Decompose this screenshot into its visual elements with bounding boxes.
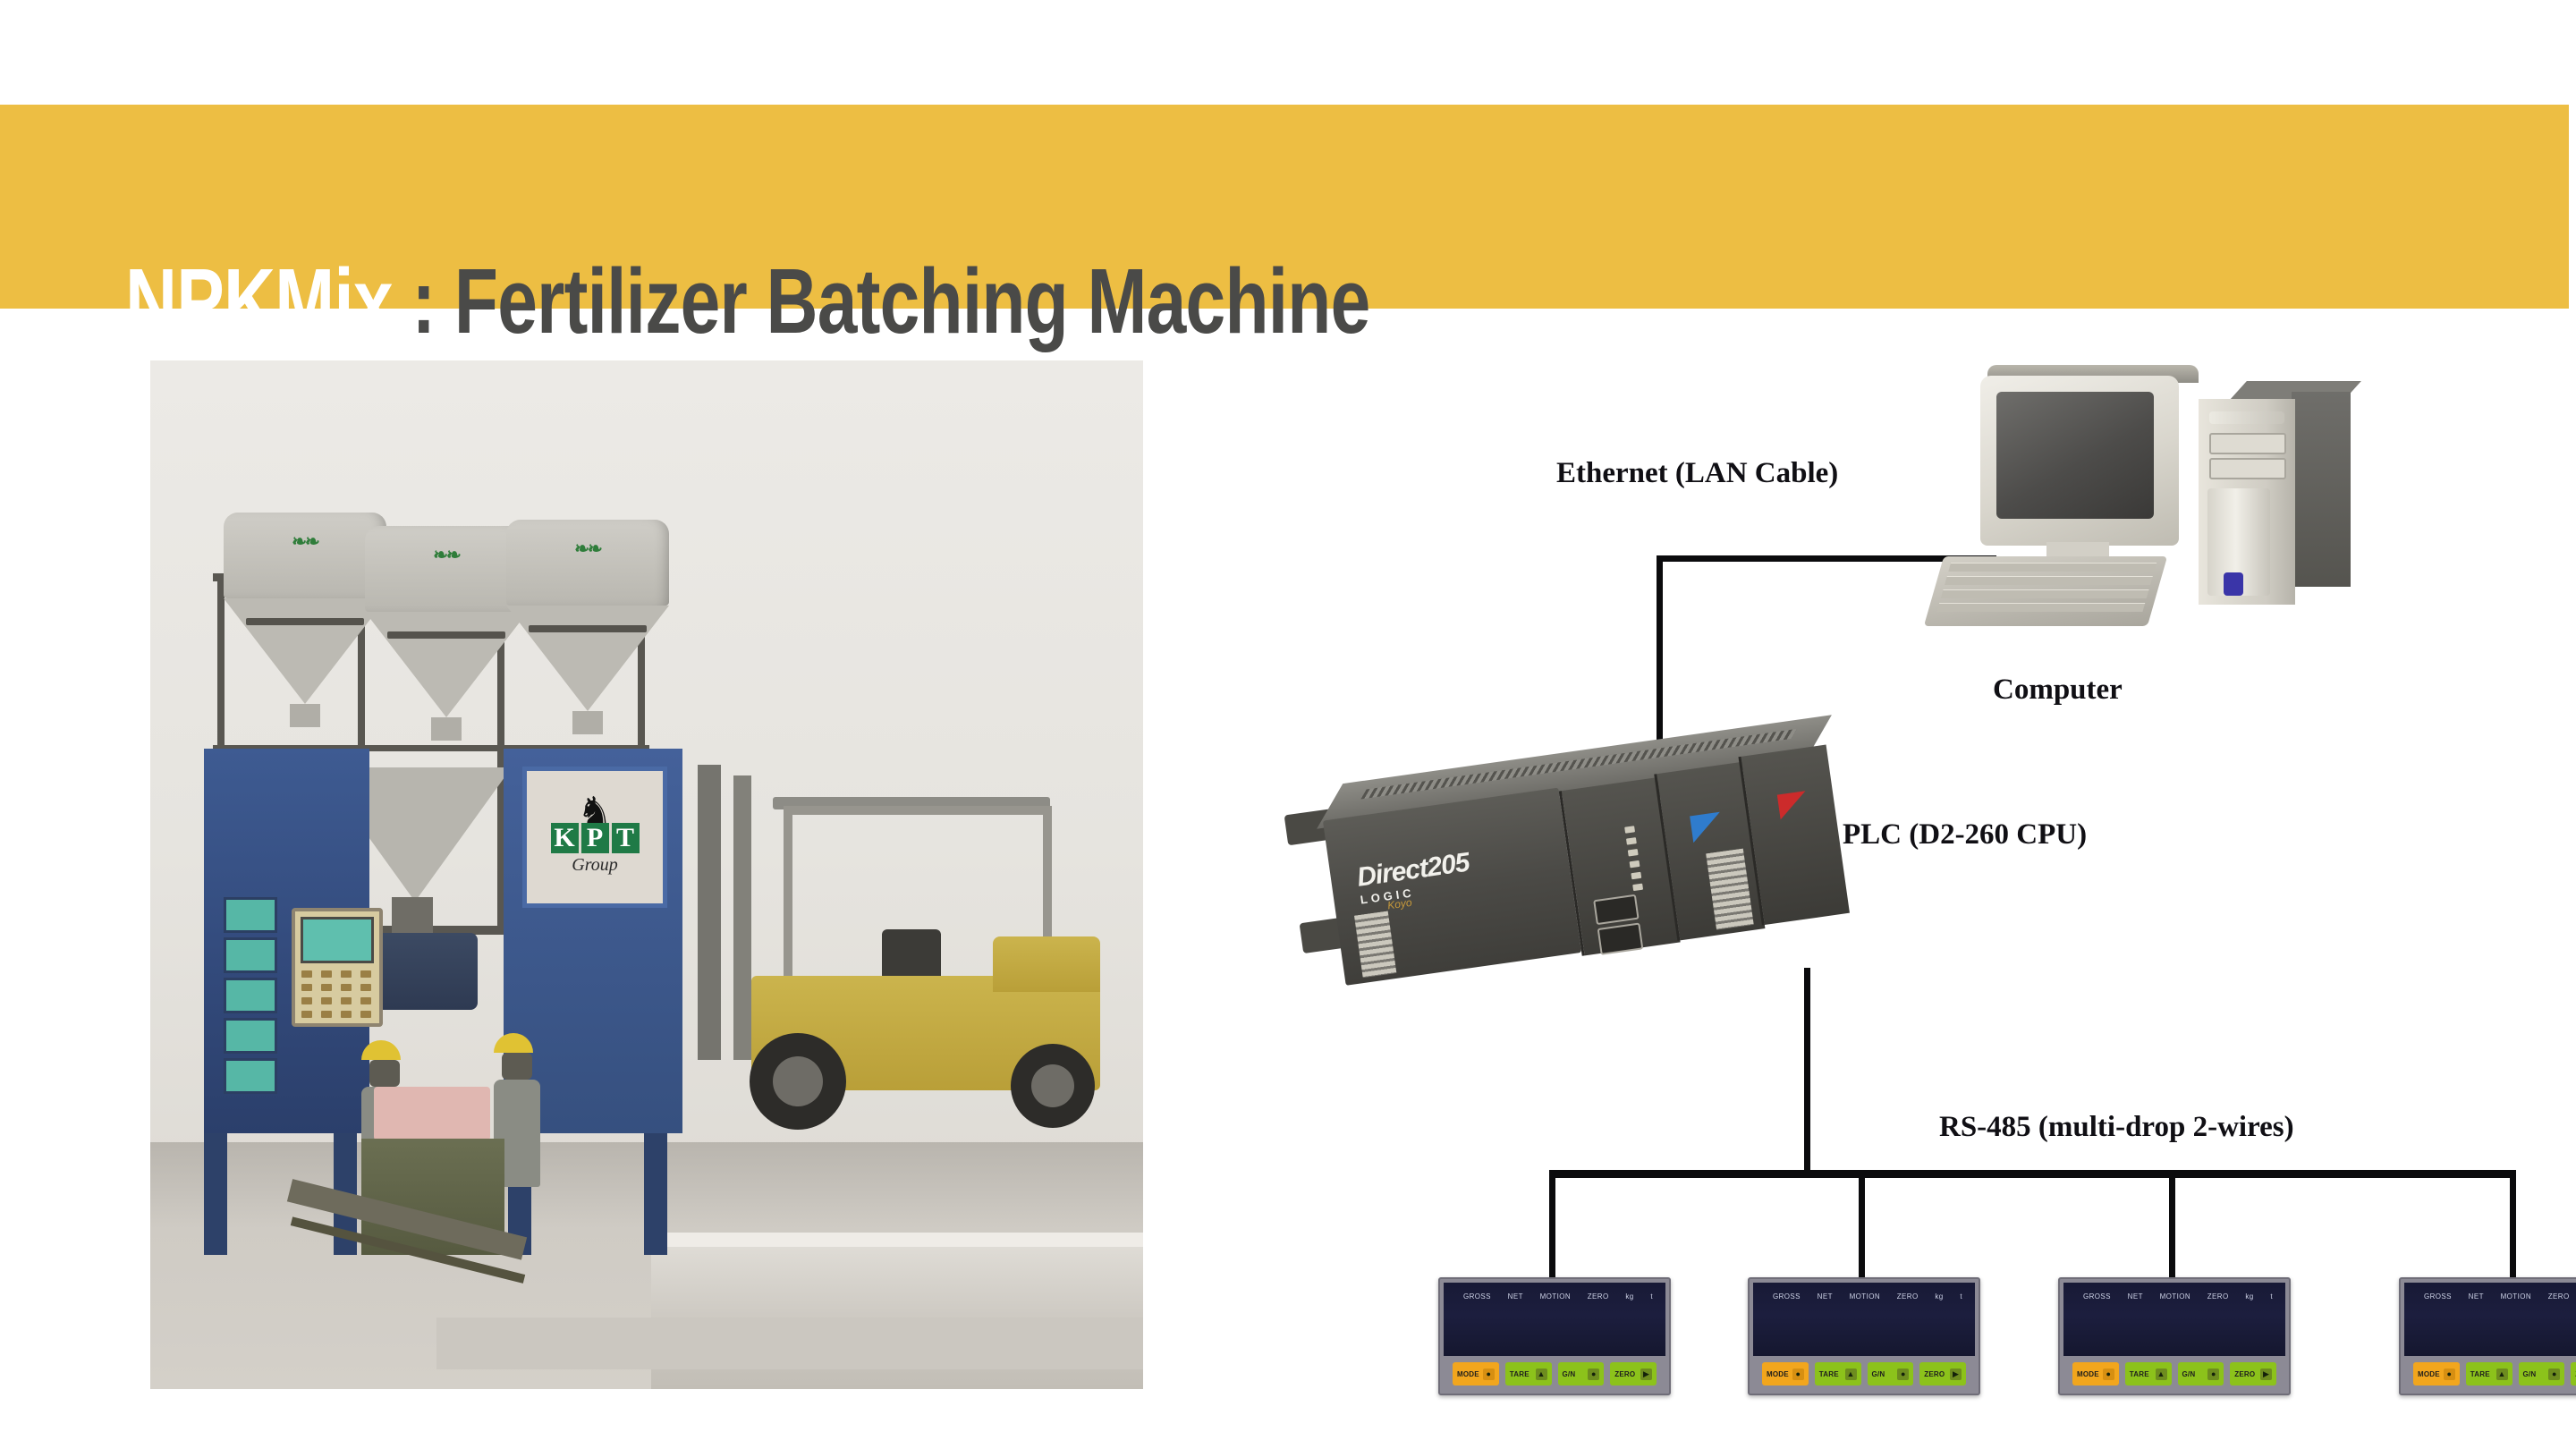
leaf-logo: ❧❧: [433, 544, 460, 566]
plc-brand: Direct205 LOGIC: [1355, 848, 1473, 907]
weighing-indicator-3[interactable]: GROSS NET MOTION ZERO kg t MODE ● TARE ▲…: [2058, 1277, 2291, 1395]
keypad-key[interactable]: [360, 984, 371, 991]
hopper-outlet: [572, 711, 603, 734]
zero-button-label: ZERO: [1924, 1370, 1945, 1378]
title-band: NPKMix : Fertilizer Batching Machine: [0, 105, 2569, 309]
plc-base-unit: Direct205 LOGIC Koyo: [1323, 788, 1581, 986]
zero-button[interactable]: ZERO ▶: [2571, 1362, 2576, 1385]
status-zero: ZERO: [2207, 1292, 2229, 1301]
keypad-key[interactable]: [301, 970, 312, 978]
tare-button[interactable]: TARE ▲: [2125, 1362, 2172, 1385]
status-kg: kg: [1625, 1292, 1633, 1301]
helmet-icon: [361, 1040, 401, 1060]
plc-led: [1632, 884, 1643, 891]
status-motion: MOTION: [2501, 1292, 2531, 1301]
keypad-key[interactable]: [321, 1011, 332, 1018]
keyboard-row: [1941, 589, 2149, 598]
dot-icon: ●: [1483, 1368, 1495, 1380]
module-blue-marker-icon: [1690, 812, 1724, 843]
keypad-key[interactable]: [321, 984, 332, 991]
hopper-2: ❧❧: [365, 526, 528, 741]
tare-button-label: TARE: [1510, 1370, 1529, 1378]
keyboard-row: [1936, 603, 2145, 612]
plc-led: [1631, 872, 1641, 879]
status-zero: ZERO: [2548, 1292, 2570, 1301]
indicator-display: GROSS NET MOTION ZERO kg t: [1444, 1283, 1665, 1356]
hopper-3: ❧❧: [506, 520, 669, 734]
gn-button-label: G/N: [1872, 1370, 1885, 1378]
zero-button[interactable]: ZERO ▶: [1610, 1362, 1657, 1385]
status-net: NET: [2469, 1292, 2484, 1301]
play-triangle-icon: ▶: [1950, 1368, 1962, 1380]
indicator-keypad[interactable]: MODE ● TARE ▲ G/N ● ZERO ▶: [1453, 1362, 1657, 1385]
hopper-slot: [529, 625, 646, 632]
label-ethernet: Ethernet (LAN Cable): [1556, 457, 1838, 490]
status-motion: MOTION: [2160, 1292, 2190, 1301]
mode-button-label: MODE: [2418, 1370, 2440, 1378]
weighing-indicator-4[interactable]: GROSS NET MOTION ZERO kg t MODE ● TARE ▲…: [2399, 1277, 2576, 1395]
hopper-slot: [387, 631, 504, 639]
label-plc: PLC (D2-260 CPU): [1843, 818, 2087, 852]
keypad-key[interactable]: [341, 997, 352, 1004]
status-gross: GROSS: [1773, 1292, 1801, 1301]
gn-button[interactable]: G/N ●: [1868, 1362, 1914, 1385]
terminal-keypad[interactable]: [301, 970, 373, 1018]
title-secondary: : Fertilizer Batching Machine: [393, 250, 1370, 352]
zero-button-label: ZERO: [2234, 1370, 2255, 1378]
forklift: [698, 765, 1118, 1158]
status-light: [224, 1018, 277, 1054]
tare-button[interactable]: TARE ▲: [1505, 1362, 1552, 1385]
zero-button[interactable]: ZERO ▶: [1919, 1362, 1966, 1385]
helmet-icon: [494, 1033, 533, 1053]
status-kg: kg: [2245, 1292, 2253, 1301]
label-computer: Computer: [1993, 674, 2123, 707]
indicator-display: GROSS NET MOTION ZERO kg t: [2404, 1283, 2576, 1356]
plc-led-column: [1624, 826, 1643, 891]
up-triangle-icon: ▲: [2496, 1368, 2508, 1380]
slide-root: NPKMix : Fertilizer Batching Machine ❧❧ …: [0, 0, 2576, 1449]
tare-button-label: TARE: [2470, 1370, 2490, 1378]
keypad-key[interactable]: [321, 997, 332, 1004]
mode-button-label: MODE: [1457, 1370, 1479, 1378]
hopper-1: ❧❧: [224, 513, 386, 727]
hopper-cone: [365, 612, 528, 717]
status-net: NET: [1818, 1292, 1833, 1301]
wire-rs485-bus: [1549, 1170, 2515, 1178]
worker-head: [369, 1060, 400, 1087]
keypad-key[interactable]: [321, 970, 332, 978]
keypad-key[interactable]: [301, 997, 312, 1004]
zero-button-label: ZERO: [1614, 1370, 1635, 1378]
plc-led: [1626, 837, 1637, 844]
gn-button-label: G/N: [1563, 1370, 1576, 1378]
status-zero: ZERO: [1588, 1292, 1609, 1301]
hopper-cone: [506, 606, 669, 711]
computer-workstation[interactable]: [1941, 349, 2406, 653]
bag-chute: [374, 1087, 490, 1140]
plc-ethernet-port[interactable]: [1597, 922, 1644, 954]
indicator-status-row: GROSS NET MOTION ZERO kg t: [2424, 1292, 2576, 1301]
status-gross: GROSS: [2424, 1292, 2452, 1301]
hopper-body: ❧❧: [506, 520, 669, 606]
dot-icon: ●: [1897, 1368, 1909, 1380]
gn-button-label: G/N: [2182, 1370, 2196, 1378]
gn-button[interactable]: G/N ●: [2519, 1362, 2565, 1385]
tower-drive-slot[interactable]: [2209, 411, 2284, 424]
hopper-slot: [246, 618, 363, 625]
machine-photo: ❧❧ ❧❧ ❧❧: [150, 360, 1143, 1389]
forklift-front-wheel: [750, 1033, 846, 1130]
plc-led: [1628, 849, 1639, 856]
plc-led: [1630, 860, 1640, 868]
keypad-key[interactable]: [360, 970, 371, 978]
status-kg: kg: [1935, 1292, 1943, 1301]
keyboard-row: [1948, 563, 2157, 572]
power-button-icon[interactable]: [2224, 572, 2243, 596]
cabinet-leg: [204, 1133, 227, 1255]
indicator-keypad[interactable]: MODE ● TARE ▲ G/N ● ZERO ▶: [1762, 1362, 1966, 1385]
status-motion: MOTION: [1850, 1292, 1880, 1301]
status-net: NET: [2128, 1292, 2143, 1301]
plc-io-terminal[interactable]: [1706, 849, 1754, 930]
wire-drop-4: [2510, 1170, 2516, 1279]
weighing-indicator-1[interactable]: GROSS NET MOTION ZERO kg t MODE ● TARE ▲…: [1438, 1277, 1671, 1395]
plc-device[interactable]: Direct205 LOGIC Koyo: [1295, 713, 1867, 1010]
status-net: NET: [1508, 1292, 1523, 1301]
status-light: [224, 937, 277, 973]
status-gross: GROSS: [1463, 1292, 1491, 1301]
wire-plc-to-bus: [1804, 968, 1810, 1175]
leaf-logo: ❧❧: [292, 530, 318, 553]
zero-button[interactable]: ZERO ▶: [2230, 1362, 2276, 1385]
terminal-screen: [301, 917, 374, 963]
gn-button-label: G/N: [2523, 1370, 2537, 1378]
tare-button-label: TARE: [2130, 1370, 2149, 1378]
keyboard-rows: [1935, 563, 2157, 620]
mode-button[interactable]: MODE ●: [1453, 1362, 1499, 1385]
keyboard[interactable]: [1924, 556, 2167, 626]
kpt-letter: K: [551, 823, 579, 853]
indicator-status-row: GROSS NET MOTION ZERO kg t: [1463, 1292, 1653, 1301]
status-light: [224, 897, 277, 933]
up-triangle-icon: ▲: [1536, 1368, 1547, 1380]
wire-drop-3: [2169, 1170, 2175, 1279]
tare-button[interactable]: TARE ▲: [1815, 1362, 1861, 1385]
hopper-outlet: [290, 704, 320, 727]
plc-series: 205: [1425, 848, 1470, 883]
module-red-marker-icon: [1777, 791, 1809, 819]
photo-platform-ledge: [436, 1318, 1143, 1369]
tower-bay[interactable]: [2209, 458, 2286, 479]
up-triangle-icon: ▲: [2156, 1368, 2167, 1380]
indicator-display: GROSS NET MOTION ZERO kg t: [2063, 1283, 2285, 1356]
status-zero: ZERO: [1897, 1292, 1919, 1301]
plc-power-terminal[interactable]: [1354, 911, 1396, 979]
hopper-cone: [224, 598, 386, 704]
dot-icon: ●: [2444, 1368, 2455, 1380]
keypad-key[interactable]: [341, 984, 352, 991]
worker-head: [502, 1053, 532, 1080]
keypad-key[interactable]: [301, 1011, 312, 1018]
indicator-keypad[interactable]: MODE ● TARE ▲ G/N ● ZERO ▶: [2413, 1362, 2576, 1385]
status-gross: GROSS: [2083, 1292, 2111, 1301]
tower-bay[interactable]: [2209, 433, 2286, 454]
mode-button-label: MODE: [1767, 1370, 1789, 1378]
keypad-key[interactable]: [341, 1011, 352, 1018]
keypad-key[interactable]: [360, 1011, 371, 1018]
indicator-status-row: GROSS NET MOTION ZERO kg t: [1773, 1292, 1962, 1301]
wire-drop-1: [1549, 1170, 1555, 1279]
monitor-bezel: [1980, 376, 2179, 546]
status-light: [224, 978, 277, 1013]
tare-button[interactable]: TARE ▲: [2466, 1362, 2512, 1385]
tower-front: [2199, 399, 2295, 605]
tare-button-label: TARE: [1819, 1370, 1839, 1378]
mode-button[interactable]: MODE ●: [2413, 1362, 2460, 1385]
keyboard-row: [1945, 576, 2153, 585]
status-t: t: [1960, 1292, 1962, 1301]
title-primary: NPKMix: [125, 250, 393, 352]
plc-serial-port[interactable]: [1593, 894, 1639, 925]
gn-button[interactable]: G/N ●: [1558, 1362, 1605, 1385]
mixer-outlet: [392, 897, 433, 933]
status-motion: MOTION: [1540, 1292, 1571, 1301]
indicator-status-row: GROSS NET MOTION ZERO kg t: [2083, 1292, 2273, 1301]
dot-icon: ●: [2207, 1368, 2219, 1380]
kpt-wordmark: Group: [572, 855, 617, 876]
status-t: t: [1650, 1292, 1653, 1301]
play-triangle-icon: ▶: [1640, 1368, 1652, 1380]
dot-icon: ●: [1588, 1368, 1599, 1380]
indicator-display: GROSS NET MOTION ZERO kg t: [1753, 1283, 1975, 1356]
hopper-body: ❧❧: [365, 526, 528, 612]
mode-button[interactable]: MODE ●: [2072, 1362, 2119, 1385]
indicator-keypad[interactable]: MODE ● TARE ▲ G/N ● ZERO ▶: [2072, 1362, 2276, 1385]
status-light: [224, 1058, 277, 1094]
plc-led: [1624, 826, 1635, 833]
wire-drop-2: [1859, 1170, 1865, 1279]
kpt-letter: T: [612, 823, 640, 853]
mode-button-label: MODE: [2077, 1370, 2099, 1378]
system-architecture-diagram: Ethernet (LAN Cable) Computer PLC (D2-26…: [1243, 340, 2531, 1413]
mode-button[interactable]: MODE ●: [1762, 1362, 1809, 1385]
hopper-body: ❧❧: [224, 513, 386, 598]
dot-icon: ●: [2103, 1368, 2114, 1380]
forklift-rear-wheel: [1011, 1044, 1095, 1128]
plc-maker: Koyo: [1386, 895, 1412, 911]
cabinet-leg: [644, 1133, 667, 1255]
keypad-key[interactable]: [341, 970, 352, 978]
monitor-screen[interactable]: [1996, 392, 2154, 519]
label-rs485: RS-485 (multi-drop 2-wires): [1939, 1111, 2294, 1144]
kpt-letter: P: [581, 823, 609, 853]
hopper-outlet: [431, 717, 462, 741]
up-triangle-icon: ▲: [1845, 1368, 1857, 1380]
kpt-group-logo: ♞ K P T Group: [522, 767, 667, 908]
kpt-letters: K P T: [551, 823, 640, 853]
dot-icon: ●: [1792, 1368, 1804, 1380]
status-t: t: [2270, 1292, 2273, 1301]
page-title: NPKMix : Fertilizer Batching Machine: [125, 255, 1369, 347]
play-triangle-icon: ▶: [2260, 1368, 2272, 1380]
forklift-mast-inner: [733, 775, 751, 1060]
status-light-stack: [224, 897, 277, 1094]
tower-side: [2292, 392, 2351, 587]
keypad-key[interactable]: [301, 984, 312, 991]
dot-icon: ●: [2548, 1368, 2560, 1380]
operator-terminal[interactable]: [292, 908, 383, 1027]
keypad-key[interactable]: [360, 997, 371, 1004]
gn-button[interactable]: G/N ●: [2178, 1362, 2224, 1385]
forklift-mast: [698, 765, 721, 1060]
leaf-logo: ❧❧: [574, 538, 601, 560]
forklift-engine-cowl: [993, 936, 1100, 992]
weighing-indicator-2[interactable]: GROSS NET MOTION ZERO kg t MODE ● TARE ▲…: [1748, 1277, 1980, 1395]
